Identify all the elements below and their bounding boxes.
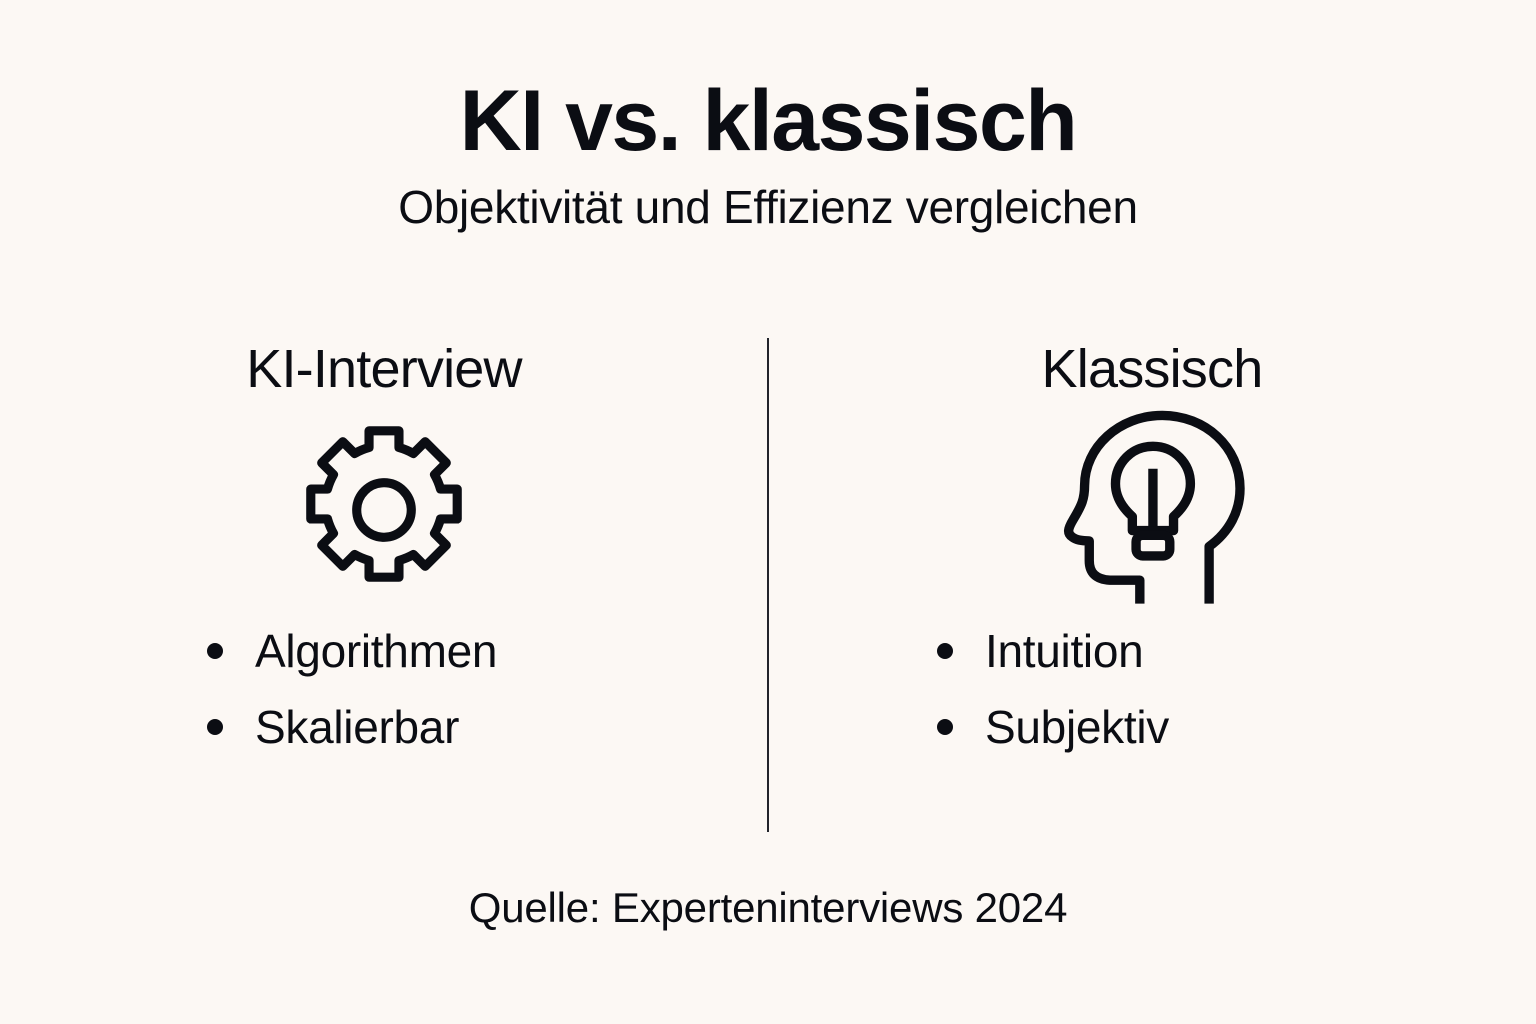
column-heading-left: KI-Interview bbox=[0, 330, 768, 400]
bullet-list-right: Intuition Subjektiv bbox=[768, 628, 1536, 750]
bullet-label: Subjektiv bbox=[985, 704, 1169, 750]
slide-header: KI vs. klassisch Objektivität und Effizi… bbox=[0, 78, 1536, 232]
bullet-label: Intuition bbox=[985, 628, 1143, 674]
bullet-label: Algorithmen bbox=[255, 628, 497, 674]
column-klassisch: Klassisch Intuition bbox=[768, 330, 1536, 840]
page-title: KI vs. klassisch bbox=[0, 78, 1536, 166]
list-item: Subjektiv bbox=[937, 704, 1536, 750]
list-item: Algorithmen bbox=[207, 628, 768, 674]
page-subtitle: Objektivität und Effizienz vergleichen bbox=[0, 182, 1536, 233]
column-divider bbox=[767, 338, 769, 832]
bullet-marker-icon bbox=[207, 719, 223, 735]
source-note: Quelle: Experteninterviews 2024 bbox=[0, 884, 1536, 932]
bullet-marker-icon bbox=[937, 643, 953, 659]
column-ki-interview: KI-Interview Algorithmen Skalierbar bbox=[0, 330, 768, 840]
list-item: Skalierbar bbox=[207, 704, 768, 750]
bullet-list-left: Algorithmen Skalierbar bbox=[0, 628, 768, 750]
list-item: Intuition bbox=[937, 628, 1536, 674]
head-lightbulb-icon bbox=[768, 410, 1536, 610]
bullet-marker-icon bbox=[937, 719, 953, 735]
comparison-slide: KI vs. klassisch Objektivität und Effizi… bbox=[0, 0, 1536, 1024]
column-heading-right: Klassisch bbox=[768, 330, 1536, 400]
bullet-marker-icon bbox=[207, 643, 223, 659]
gear-icon bbox=[0, 410, 768, 610]
bullet-label: Skalierbar bbox=[255, 704, 459, 750]
